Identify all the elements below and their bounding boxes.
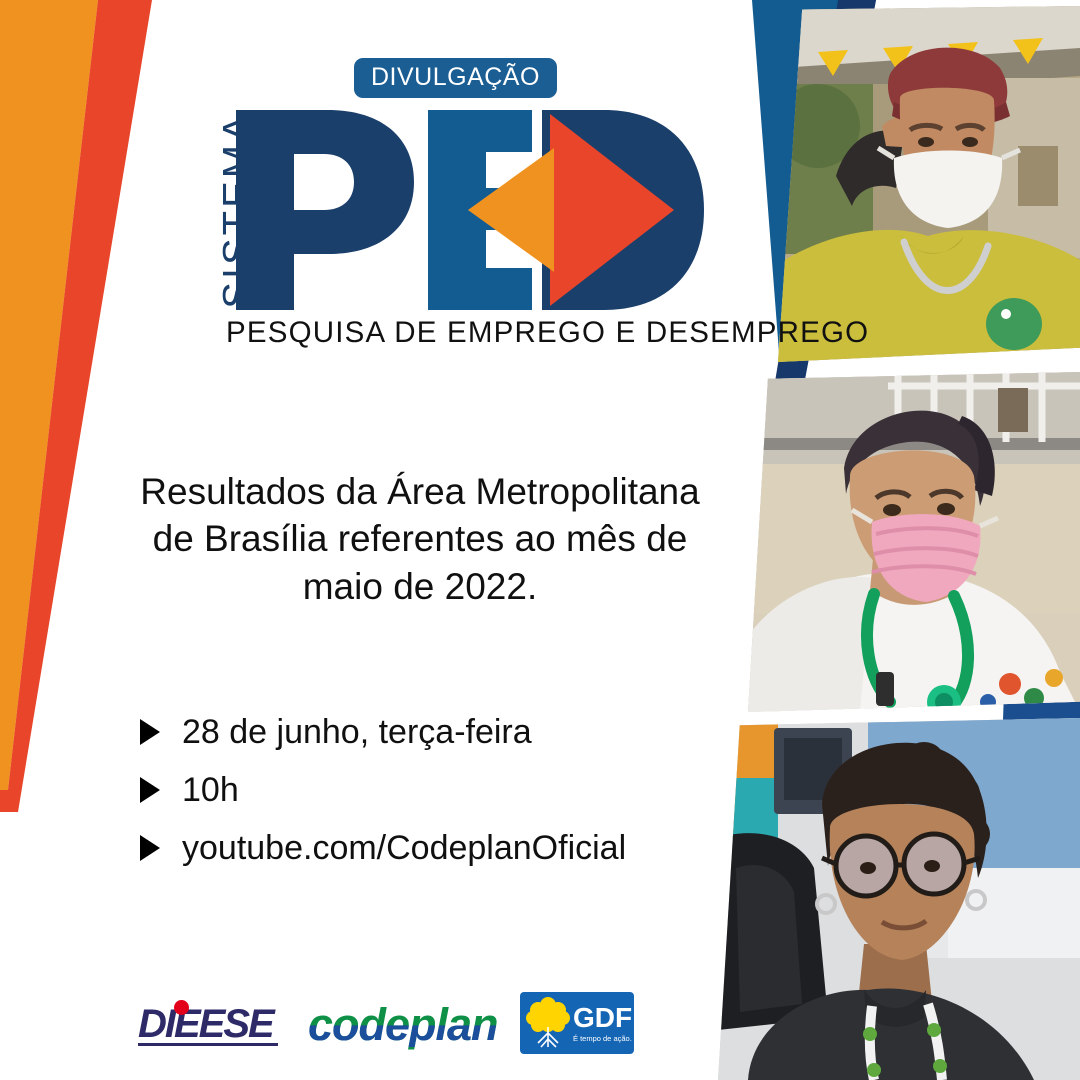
headline-block: Resultados da Área Metropolitana de Bras… <box>130 468 710 610</box>
dieese-logo: DIEESE <box>138 1000 278 1046</box>
photo-young-office-worker <box>718 718 1080 1080</box>
detail-youtube-link[interactable]: youtube.com/CodeplanOficial <box>182 831 626 865</box>
codeplan-logo: codeplan codeplan <box>308 1000 490 1046</box>
ped-logo-block: DIVULGAÇÃO SISTEMA PESQUISA DE EMPREGO E… <box>160 58 720 368</box>
dieese-wordmark: DIEESE <box>138 1004 273 1044</box>
letter-p <box>236 110 414 310</box>
detail-time-label: 10h <box>182 773 239 807</box>
photo-health-worker <box>748 372 1080 712</box>
triangle-right-icon <box>140 719 160 745</box>
dieese-underline <box>138 1043 278 1046</box>
photo-2-art <box>748 372 1080 712</box>
headline-line-1: Resultados da Área Metropolitana <box>130 468 710 515</box>
divulgacao-badge: DIVULGAÇÃO <box>354 58 557 98</box>
gdf-slogan: É tempo de ação. <box>573 1035 632 1043</box>
gdf-tree-icon <box>525 997 571 1049</box>
ped-tagline: PESQUISA DE EMPREGO E DESEMPREGO <box>226 316 869 350</box>
photo-collage <box>660 0 1080 1080</box>
event-details-list: 28 de junho, terça-feira 10h youtube.com… <box>140 715 700 889</box>
photo-3-art <box>718 718 1080 1080</box>
footer-logo-row: DIEESE codeplan codeplan <box>138 992 634 1054</box>
gdf-text-block: GDF É tempo de ação. <box>573 1004 632 1043</box>
headline-line-2: de Brasília referentes ao mês de <box>130 515 710 562</box>
photo-worker-yellow-shirt <box>778 6 1080 362</box>
headline-line-3: maio de 2022. <box>130 563 710 610</box>
gdf-wordmark: GDF <box>573 1004 632 1032</box>
list-item-time: 10h <box>140 773 700 807</box>
triangle-right-icon <box>140 777 160 803</box>
gdf-logo: GDF É tempo de ação. <box>520 992 634 1054</box>
dieese-dot-icon <box>174 1000 189 1015</box>
left-orange-stripe <box>0 0 98 790</box>
triangle-right-icon <box>140 835 160 861</box>
ped-logo-svg <box>232 110 704 310</box>
photo-1-art <box>778 6 1080 362</box>
ped-acronym-mark <box>232 110 704 315</box>
list-item-link[interactable]: youtube.com/CodeplanOficial <box>140 831 700 865</box>
poster-canvas: DIVULGAÇÃO SISTEMA PESQUISA DE EMPREGO E… <box>0 0 1080 1080</box>
left-redorange-stripe <box>0 0 152 812</box>
detail-date-label: 28 de junho, terça-feira <box>182 715 532 749</box>
list-item-date: 28 de junho, terça-feira <box>140 715 700 749</box>
